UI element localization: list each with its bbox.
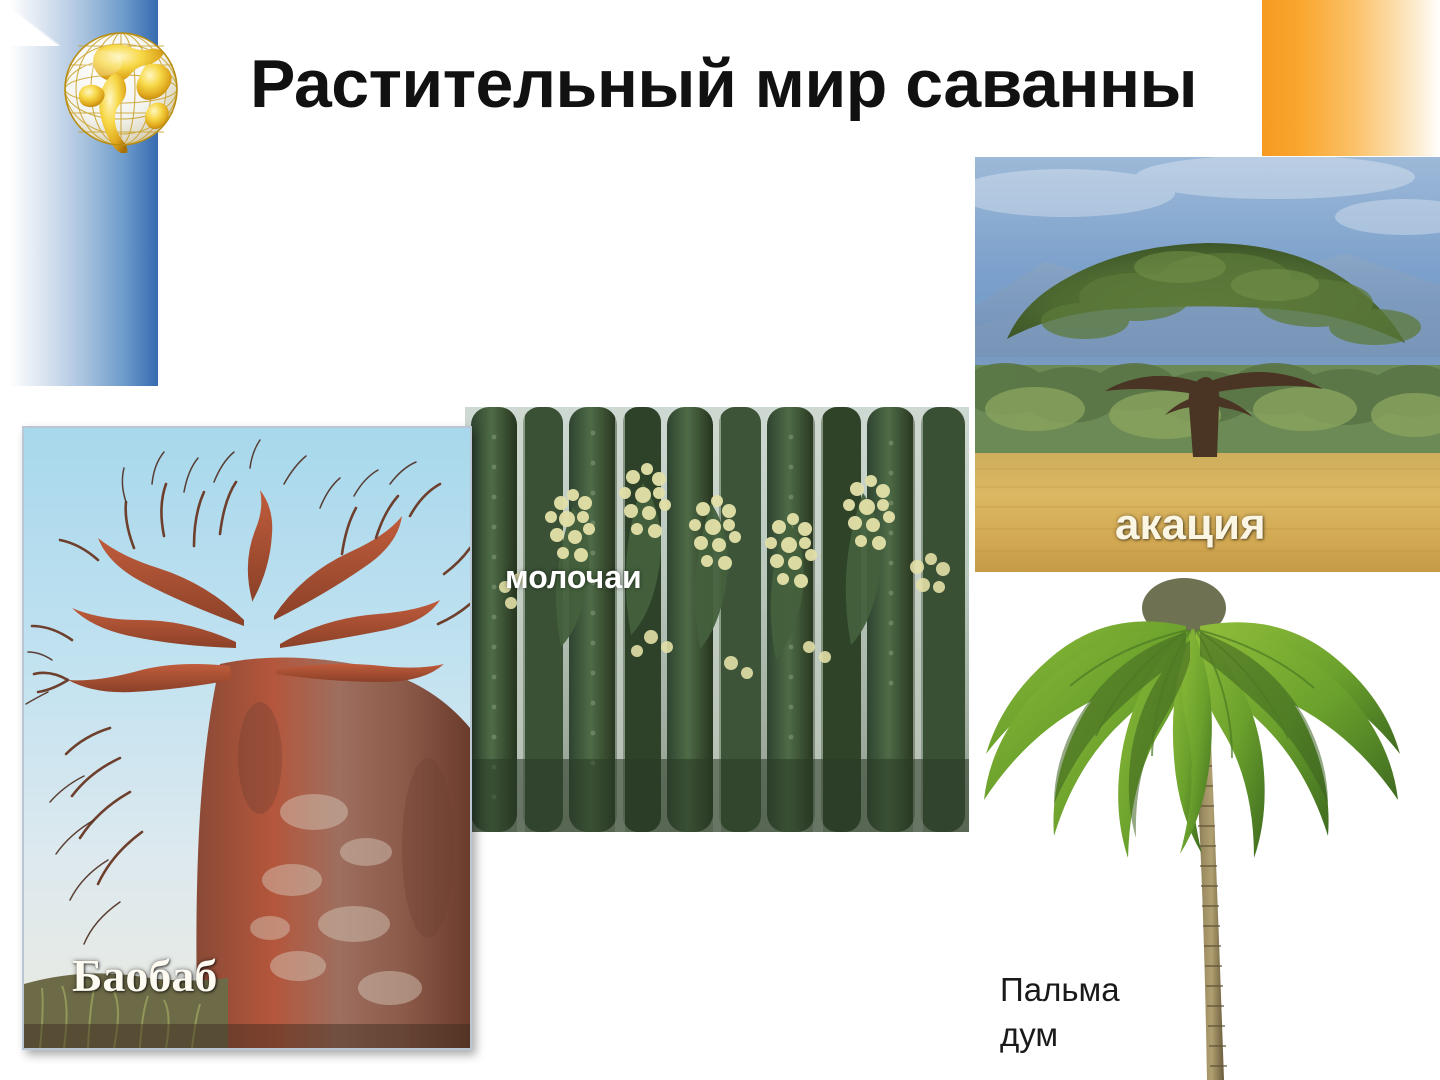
globe-icon — [58, 21, 184, 153]
slide-canvas: Растительный мир саванны — [0, 0, 1440, 1080]
photo-euphorbia: молочаи — [465, 407, 969, 832]
photo-caption-baobab: Баобаб — [72, 949, 217, 1002]
photo-caption-euphorbia: молочаи — [505, 559, 642, 596]
page-title: Растительный мир саванны — [250, 48, 1400, 121]
photo-baobab: Баобаб — [22, 426, 472, 1050]
photo-caption-palm: Пальма дум — [1000, 968, 1120, 1057]
photo-caption-acacia: акация — [1115, 500, 1266, 550]
photo-acacia: акация — [975, 157, 1440, 572]
